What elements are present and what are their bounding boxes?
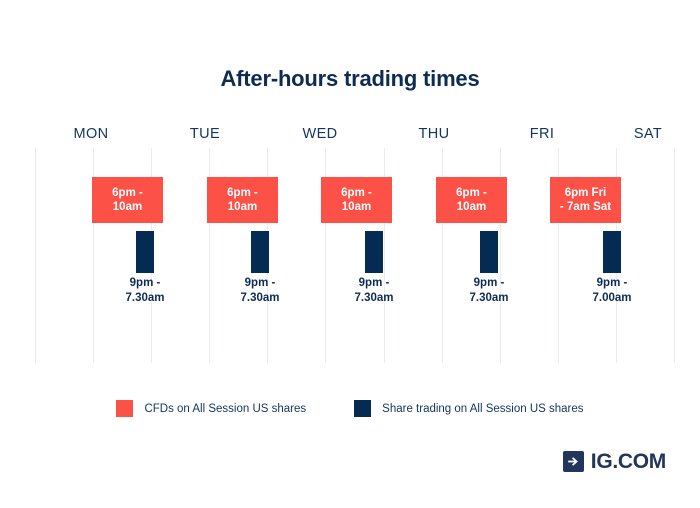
cfd-block-fri-line2: - 7am Sat [560, 200, 611, 214]
share-label-fri-line1: 9pm - [567, 276, 657, 291]
cfd-block-thu-line2: 10am [457, 200, 486, 214]
cfd-block-wed-line2: 10am [342, 200, 371, 214]
share-label-thu-line1: 9pm - [444, 276, 534, 291]
arrow-right-icon [563, 451, 584, 472]
share-label-wed-line1: 9pm - [329, 276, 419, 291]
gridline [674, 148, 675, 363]
cfd-block-wed[interactable]: 6pm - 10am [321, 177, 392, 223]
share-bar-mon[interactable] [136, 231, 154, 273]
red-swatch-icon [116, 400, 133, 417]
share-label-tue-line1: 9pm - [215, 276, 305, 291]
chart-page: After-hours trading times MON TUE WED TH… [0, 0, 700, 508]
cfd-block-tue-line1: 6pm - [227, 186, 258, 200]
share-label-thu-line2: 7.30am [444, 291, 534, 306]
share-label-mon-line1: 9pm - [100, 276, 190, 291]
share-label-mon-line2: 7.30am [100, 291, 190, 306]
share-bar-thu[interactable] [480, 231, 498, 273]
share-label-tue: 9pm - 7.30am [215, 276, 305, 306]
share-label-thu: 9pm - 7.30am [444, 276, 534, 306]
share-bar-fri[interactable] [603, 231, 621, 273]
share-label-fri-line2: 7.00am [567, 291, 657, 306]
cfd-block-tue-line2: 10am [228, 200, 257, 214]
ig-logo[interactable]: IG.COM [563, 451, 666, 472]
day-label-tue: TUE [165, 126, 245, 142]
cfd-block-fri-line1: 6pm Fri [565, 186, 607, 200]
day-label-sat: SAT [608, 126, 688, 142]
gridline [35, 148, 36, 363]
cfd-block-tue[interactable]: 6pm - 10am [207, 177, 278, 223]
chart-legend: CFDs on All Session US shares Share trad… [0, 400, 700, 417]
share-label-wed-line2: 7.30am [329, 291, 419, 306]
share-label-mon: 9pm - 7.30am [100, 276, 190, 306]
share-label-tue-line2: 7.30am [215, 291, 305, 306]
cfd-block-thu[interactable]: 6pm - 10am [436, 177, 507, 223]
cfd-block-thu-line1: 6pm - [456, 186, 487, 200]
cfd-block-fri[interactable]: 6pm Fri - 7am Sat [550, 177, 621, 223]
share-bar-wed[interactable] [365, 231, 383, 273]
legend-item-share-trading[interactable]: Share trading on All Session US shares [354, 400, 583, 417]
legend-label-cfds: CFDs on All Session US shares [144, 403, 306, 415]
ig-logo-text: IG.COM [591, 451, 666, 472]
cfd-block-mon-line2: 10am [113, 200, 142, 214]
share-label-wed: 9pm - 7.30am [329, 276, 419, 306]
cfd-block-mon-line1: 6pm - [112, 186, 143, 200]
cfd-block-wed-line1: 6pm - [341, 186, 372, 200]
day-label-thu: THU [394, 126, 474, 142]
legend-item-cfds[interactable]: CFDs on All Session US shares [116, 400, 306, 417]
share-label-fri: 9pm - 7.00am [567, 276, 657, 306]
share-bar-tue[interactable] [251, 231, 269, 273]
cfd-block-mon[interactable]: 6pm - 10am [92, 177, 163, 223]
navy-swatch-icon [354, 400, 371, 417]
day-label-wed: WED [280, 126, 360, 142]
legend-label-share-trading: Share trading on All Session US shares [382, 403, 583, 415]
day-label-mon: MON [51, 126, 131, 142]
day-label-fri: FRI [502, 126, 582, 142]
page-title: After-hours trading times [0, 66, 700, 92]
